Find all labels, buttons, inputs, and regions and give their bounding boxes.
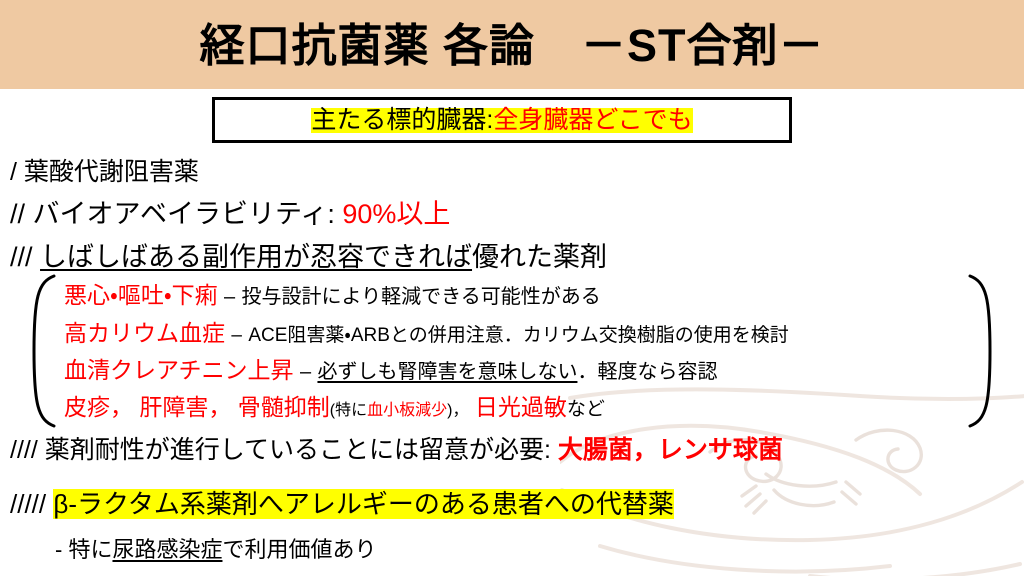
tolerability-underlined-text: しばしばある副作用が忍容できれば (40, 242, 472, 272)
side-effect-term-hepatotoxicity: 肝障害， (139, 394, 231, 420)
bullet-line-tolerability: /// しばしばある副作用が忍容できれば優れた薬剤 (10, 235, 607, 274)
bullet-line-beta-lactam-allergy: ///// β-ラクタム系薬剤へアレルギーのある患者への代替薬 (10, 484, 674, 521)
side-effect-paren-open: (特に (330, 402, 367, 419)
side-effect-thrombocytopenia: 血小板減少 (367, 402, 447, 419)
side-effect-detail-creatinine-underlined: 必ずしも腎障害を意味しない (317, 361, 577, 383)
uti-pre-text: 特に (68, 537, 112, 562)
bullet-text-1: 葉酸代謝阻害薬 (24, 158, 199, 186)
side-effect-detail-hyperkalemia: ACE阻害薬・ARBとの併用注意．カリウム交換樹脂の使用を検討 (248, 325, 788, 346)
target-organ-box-content: 主たる標的臓器:全身臓器どこでも (215, 100, 789, 140)
tolerability-tail-text: 優れた薬剤 (472, 242, 607, 272)
resistance-label: 薬剤耐性が進行していることには留意が必要: (45, 436, 551, 464)
bullet-line-folate-inhibitor: / 葉酸代謝阻害薬 (10, 152, 199, 188)
left-bracket (28, 272, 58, 430)
bullet-marker-2: // (10, 199, 25, 229)
uti-underlined-text: 尿路感染症 (112, 537, 222, 562)
side-effect-group: 悪心・嘔吐・下痢 – 投与設計により軽減できる可能性がある 高カリウム血症 – … (28, 272, 996, 430)
bioavailability-label: バイオアベイラビリティ: (33, 199, 335, 229)
beta-lactam-alternative-text: β-ラクタム系薬剤へアレルギーのある患者への代替薬 (53, 489, 674, 519)
side-effect-dash-creatinine: – (300, 361, 311, 383)
resistance-organisms: 大腸菌，レンサ球菌 (558, 436, 783, 464)
side-effect-paren-close: )， (447, 402, 468, 419)
side-effect-term-etc: など (567, 399, 605, 420)
bioavailability-value: 90%以上 (342, 199, 450, 229)
side-effect-dash-hyperkalemia: – (231, 325, 242, 346)
side-effect-term-myelosuppression: 骨髄抑制 (238, 394, 330, 420)
bullet-marker-5: ///// (10, 489, 46, 519)
side-effect-term-photosensitivity: 日光過敏 (475, 394, 567, 420)
slide-canvas: 経口抗菌薬 各論 －ST合剤－ 主たる標的臓器:全身臓器どこでも / 葉酸代謝阻… (0, 0, 1024, 576)
bullet-line-bioavailability: // バイオアベイラビリティ: 90%以上 (10, 192, 450, 231)
bullet-marker-3: /// (10, 242, 33, 272)
side-effect-row-hyperkalemia: 高カリウム血症 – ACE阻害薬・ARBとの併用注意．カリウム交換樹脂の使用を検… (64, 314, 789, 348)
target-organ-label: 主たる標的臓器: (311, 108, 493, 133)
right-bracket (966, 272, 996, 430)
page-title: 経口抗菌薬 各論 －ST合剤－ (0, 9, 1024, 74)
bullet-line-resistance: //// 薬剤耐性が進行していることには留意が必要: 大腸菌，レンサ球菌 (10, 430, 783, 466)
side-effect-term-hyperkalemia: 高カリウム血症 (64, 320, 225, 346)
target-organ-value: 全身臓器どこでも (493, 108, 692, 133)
side-effect-row-misc: 皮疹， 肝障害， 骨髄抑制(特に血小板減少)， 日光過敏など (64, 388, 605, 422)
side-effect-term-gi: 悪心・嘔吐・下痢 (64, 282, 218, 308)
side-effect-row-gi: 悪心・嘔吐・下痢 – 投与設計により軽減できる可能性がある (64, 276, 601, 310)
bullet-marker-4: //// (10, 436, 38, 464)
sub-bullet-uti: - 特に尿路感染症で利用価値あり (55, 532, 377, 564)
side-effect-term-rash: 皮疹， (64, 394, 133, 420)
uti-post-text: で利用価値あり (222, 537, 376, 562)
side-effect-detail-creatinine-tail: ．軽度なら容認 (577, 361, 717, 383)
sub-bullet-marker: - (55, 537, 62, 562)
side-effect-term-creatinine: 血清クレアチニン上昇 (64, 357, 294, 383)
side-effect-dash-gi: – (224, 286, 235, 308)
side-effect-row-creatinine: 血清クレアチニン上昇 – 必ずしも腎障害を意味しない．軽度なら容認 (64, 351, 717, 385)
target-organ-box: 主たる標的臓器:全身臓器どこでも (212, 97, 792, 143)
bullet-marker-1: / (10, 158, 17, 186)
side-effect-detail-gi: 投与設計により軽減できる可能性がある (242, 286, 601, 308)
